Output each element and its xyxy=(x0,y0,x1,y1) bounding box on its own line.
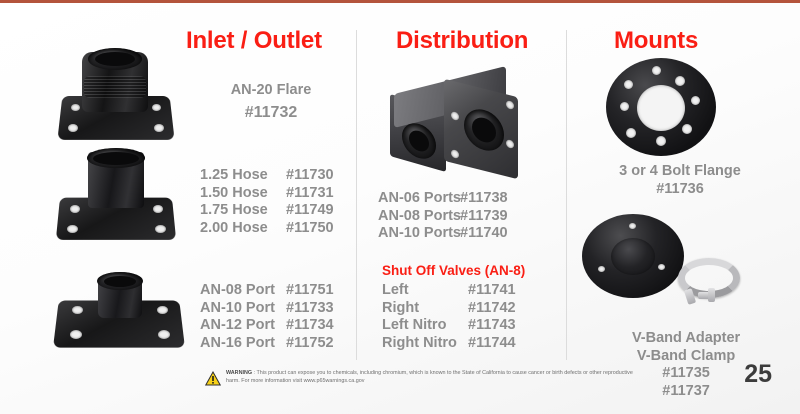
valve-part: #11741 xyxy=(468,282,516,300)
column-divider-2 xyxy=(566,30,567,360)
heading-mounts: Mounts xyxy=(614,27,698,55)
valve-label: Right xyxy=(382,300,468,318)
valve-label: Right Nitro xyxy=(382,335,468,353)
list-item: Right Nitro #11744 xyxy=(382,335,516,353)
list-item: 2.00 Hose #11750 xyxy=(200,220,334,238)
dist-part: #11738 xyxy=(460,190,508,208)
valve-part: #11742 xyxy=(468,300,516,318)
port-part: #11752 xyxy=(286,335,334,353)
list-item: AN-08 Port #11751 xyxy=(200,282,334,300)
warning-text: WARNING : This product can expose you to… xyxy=(226,370,645,385)
catalog-page: Inlet / Outlet AN-20 Flare #11732 1.25 H… xyxy=(0,0,800,414)
flare-part-number: #11732 xyxy=(196,104,346,122)
hose-barb-fitting-image xyxy=(56,152,178,244)
hose-label: 2.00 Hose xyxy=(200,220,286,238)
list-item: AN-12 Port #11734 xyxy=(200,317,334,335)
warning-line-1: This product can expose you to chemicals… xyxy=(256,370,510,376)
port-label: AN-12 Port xyxy=(200,317,286,335)
warning-label: WARNING xyxy=(226,370,252,376)
hose-part: #11750 xyxy=(286,220,334,238)
list-item: Right #11742 xyxy=(382,300,516,318)
valve-label: Left Nitro xyxy=(382,317,468,335)
hose-part: #11749 xyxy=(286,202,334,220)
valve-label: Left xyxy=(382,282,468,300)
port-part: #11751 xyxy=(286,282,334,300)
valve-part: #11743 xyxy=(468,317,516,335)
heading-inlet-outlet: Inlet / Outlet xyxy=(186,27,322,55)
list-item: AN-10 Ports #11740 xyxy=(378,225,508,243)
list-item: 1.50 Hose #11731 xyxy=(200,185,334,203)
list-item: Left #11741 xyxy=(382,282,516,300)
flare-name: AN-20 Flare xyxy=(196,82,346,100)
list-item: AN-06 Ports #11738 xyxy=(378,190,508,208)
port-label: AN-10 Port xyxy=(200,300,286,318)
port-label: AN-08 Port xyxy=(200,282,286,300)
heading-shut-off-valves: Shut Off Valves (AN-8) xyxy=(382,263,525,278)
list-item: AN-10 Port #11733 xyxy=(200,300,334,318)
warning-triangle-icon xyxy=(205,371,221,386)
list-item: 1.25 Hose #11730 xyxy=(200,167,334,185)
port-part: #11733 xyxy=(286,300,334,318)
column-divider-1 xyxy=(356,30,357,360)
top-accent-rule xyxy=(0,0,800,3)
list-item: Left Nitro #11743 xyxy=(382,317,516,335)
distribution-spec-list: AN-06 Ports #11738 AN-08 Ports #11739 AN… xyxy=(378,190,508,243)
page-number: 25 xyxy=(744,360,772,389)
vband-clamp-part: #11737 xyxy=(662,383,710,399)
flange-part-number: #11736 xyxy=(580,181,780,199)
valve-part: #11744 xyxy=(468,335,516,353)
v-band-clamp-image xyxy=(672,258,752,310)
flange-name: 3 or 4 Bolt Flange xyxy=(580,163,780,181)
bolt-flange-ring-image xyxy=(606,58,718,158)
hose-label: 1.75 Hose xyxy=(200,202,286,220)
vband-clamp-label: V-Band Clamp xyxy=(637,348,735,364)
hose-part: #11731 xyxy=(286,185,334,203)
shutoff-spec-list: Left #11741 Right #11742 Left Nitro #117… xyxy=(382,282,516,352)
dist-label: AN-08 Ports xyxy=(378,208,460,226)
dist-part: #11740 xyxy=(460,225,508,243)
prop65-warning: WARNING : This product can expose you to… xyxy=(205,370,645,386)
heading-distribution: Distribution xyxy=(396,27,528,55)
list-item: AN-16 Port #11752 xyxy=(200,335,334,353)
hose-spec-list: 1.25 Hose #11730 1.50 Hose #11731 1.75 H… xyxy=(200,167,334,237)
an-20-flare-fitting-image xyxy=(56,48,176,143)
dist-part: #11739 xyxy=(460,208,508,226)
threaded-port-fitting-image xyxy=(56,268,186,354)
list-item: 1.75 Hose #11749 xyxy=(200,202,334,220)
dist-label: AN-06 Ports xyxy=(378,190,460,208)
port-spec-list: AN-08 Port #11751 AN-10 Port #11733 AN-1… xyxy=(200,282,334,352)
list-item: AN-08 Ports #11739 xyxy=(378,208,508,226)
distribution-block-image xyxy=(388,72,524,177)
v-band-adapter-ring-image xyxy=(582,214,686,300)
hose-label: 1.25 Hose xyxy=(200,167,286,185)
dist-label: AN-10 Ports xyxy=(378,225,460,243)
port-part: #11734 xyxy=(286,317,334,335)
hose-label: 1.50 Hose xyxy=(200,185,286,203)
port-label: AN-16 Port xyxy=(200,335,286,353)
hose-part: #11730 xyxy=(286,167,334,185)
